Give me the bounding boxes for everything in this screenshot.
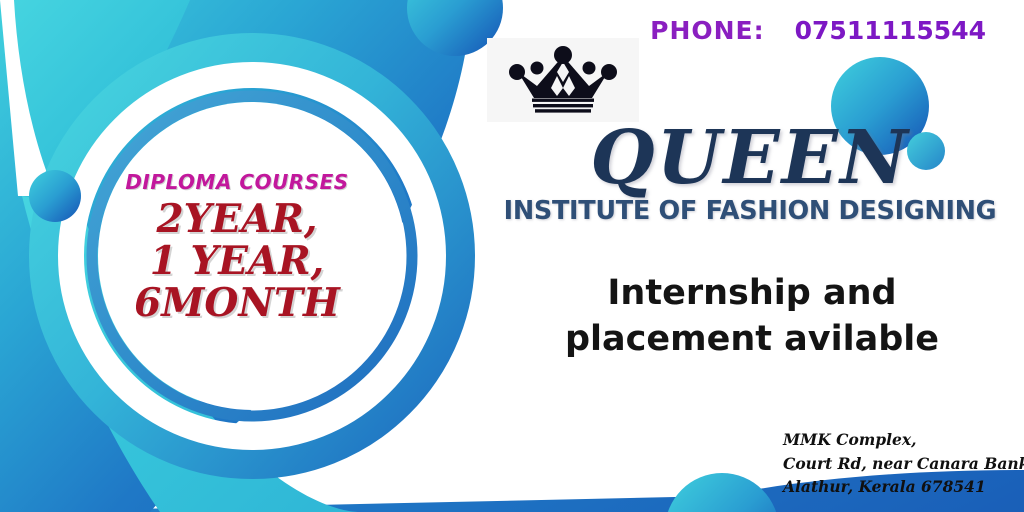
phone-label: PHONE: (650, 16, 765, 45)
promotional-banner: PHONE: 07511115544 (0, 0, 1024, 512)
address-block: MMK Complex, Court Rd, near Canara Bank,… (783, 428, 1024, 499)
address-line-1: MMK Complex, (783, 428, 1024, 452)
tagline-line-2: placement avilable (512, 316, 992, 362)
tagline: Internship and placement avilable (512, 270, 992, 362)
crown-logo-box (487, 38, 639, 122)
course-duration-1: 2YEAR, (94, 198, 380, 240)
course-duration-2: 1 YEAR, (94, 240, 380, 282)
phone-number[interactable]: 07511115544 (795, 16, 986, 45)
crown-icon (504, 46, 622, 114)
accent-dot-left (29, 170, 81, 222)
address-line-2: Court Rd, near Canara Bank, (783, 452, 1024, 476)
course-duration-3: 6MONTH (94, 282, 380, 324)
brand-subtitle: INSTITUTE OF FASHION DESIGNING (500, 196, 1000, 226)
address-line-3: Alathur, Kerala 678541 (783, 475, 1024, 499)
brand-block: QUEEN INSTITUTE OF FASHION DESIGNING (500, 124, 1000, 226)
tagline-line-1: Internship and (512, 270, 992, 316)
phone-row: PHONE: 07511115544 (650, 16, 986, 45)
diploma-courses-heading: DIPLOMA COURSES (94, 172, 380, 192)
diploma-courses-block: DIPLOMA COURSES 2YEAR, 1 YEAR, 6MONTH (94, 172, 380, 324)
brand-name: QUEEN (500, 124, 1000, 192)
